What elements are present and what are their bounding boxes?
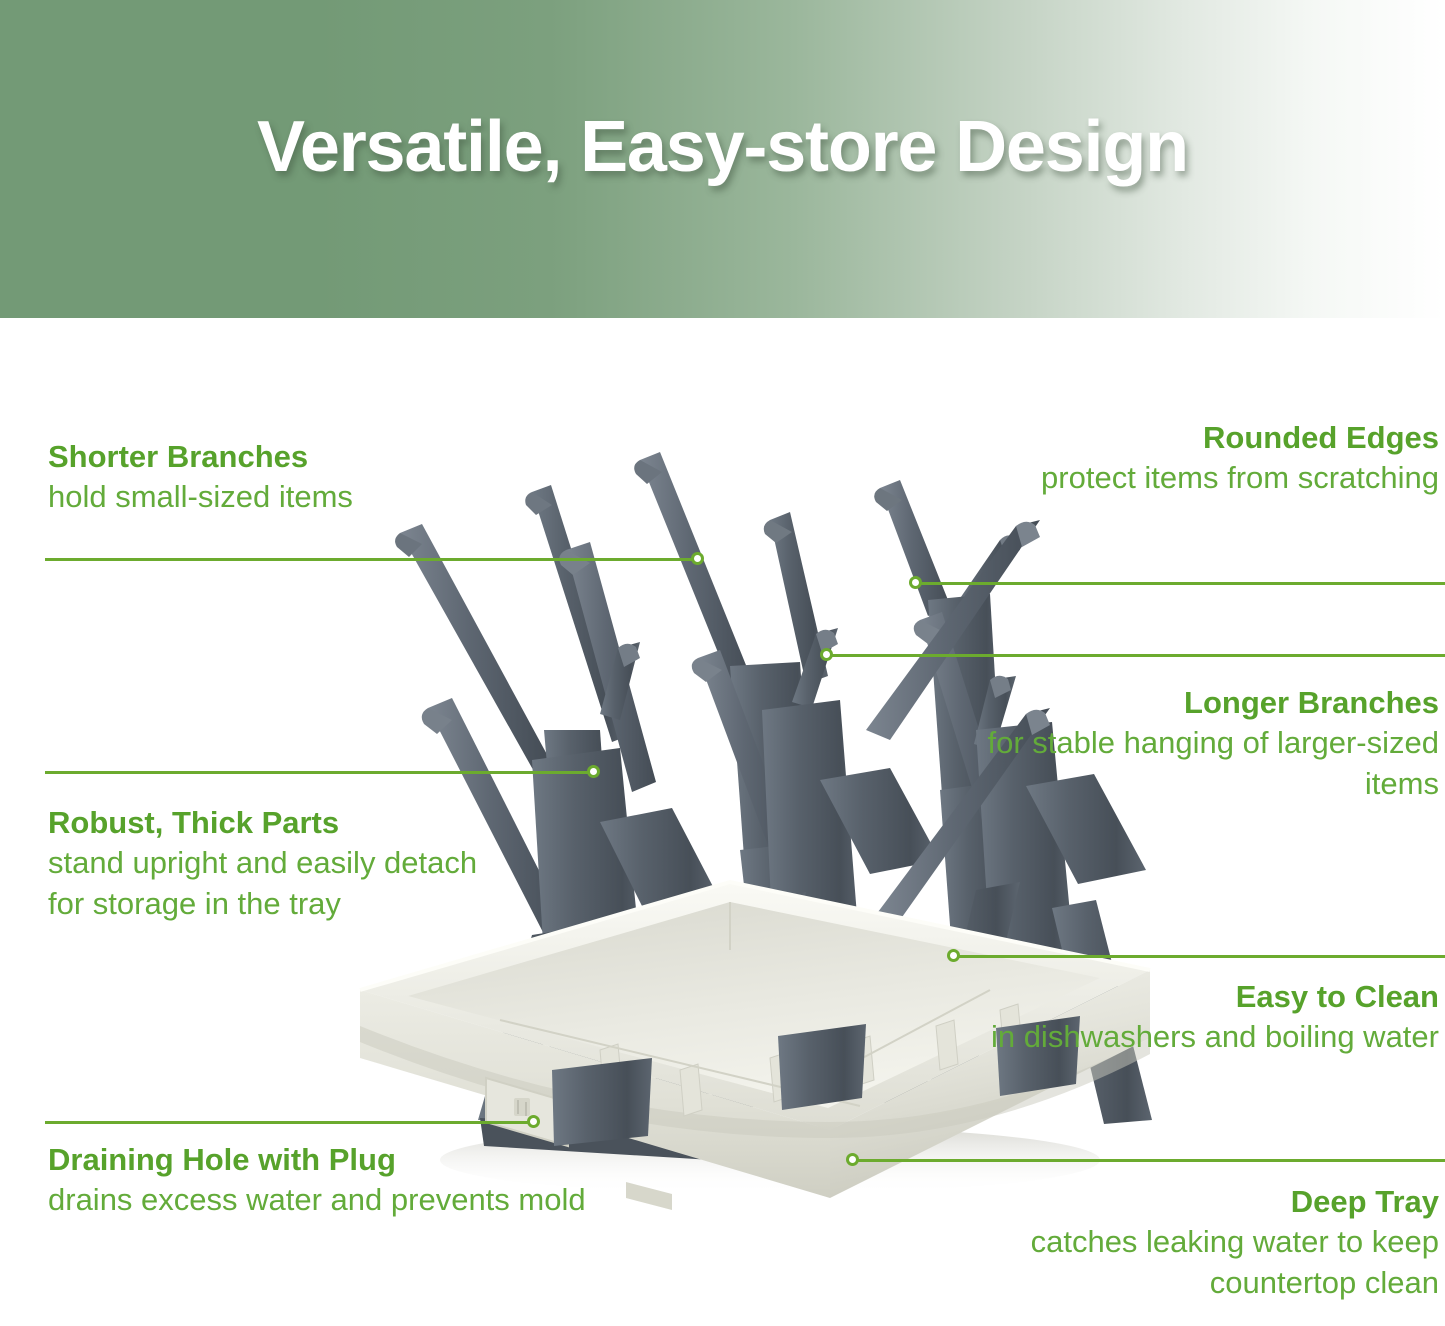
callout-draining-hole: Draining Hole with Plug drains excess wa… xyxy=(48,1140,788,1221)
infographic-page: Versatile, Easy-store Design xyxy=(0,0,1445,1326)
callout-shorter-branches-body: hold small-sized items xyxy=(48,477,518,517)
callout-deep-tray: Deep Tray catches leaking water to keep … xyxy=(895,1182,1439,1303)
leader-dot-robust-thick-parts xyxy=(587,765,600,778)
leader-line-deep-tray xyxy=(858,1159,1445,1162)
callout-deep-tray-heading: Deep Tray xyxy=(895,1182,1439,1222)
leader-dot-rounded-edges xyxy=(909,576,922,589)
leader-line-robust-thick-parts xyxy=(45,771,593,774)
callout-easy-to-clean-heading: Easy to Clean xyxy=(975,977,1439,1017)
callout-shorter-branches-heading: Shorter Branches xyxy=(48,437,518,477)
page-title: Versatile, Easy-store Design xyxy=(0,106,1445,188)
leader-dot-shorter-branches xyxy=(691,552,704,565)
leader-dot-draining-hole xyxy=(527,1115,540,1128)
leader-line-draining-hole xyxy=(45,1121,533,1124)
leader-line-easy-to-clean xyxy=(959,955,1445,958)
callout-deep-tray-body: catches leaking water to keep countertop… xyxy=(895,1222,1439,1303)
callout-draining-hole-heading: Draining Hole with Plug xyxy=(48,1140,788,1180)
callout-robust-thick-parts-body: stand upright and easily detach for stor… xyxy=(48,843,498,924)
leader-dot-easy-to-clean xyxy=(947,949,960,962)
callout-longer-branches: Longer Branches for stable hanging of la… xyxy=(975,683,1439,804)
callout-robust-thick-parts-heading: Robust, Thick Parts xyxy=(48,803,498,843)
callout-longer-branches-body: for stable hanging of larger-sized items xyxy=(975,723,1439,804)
callout-easy-to-clean-body: in dishwashers and boiling water xyxy=(975,1017,1439,1057)
callout-longer-branches-heading: Longer Branches xyxy=(975,683,1439,723)
callout-rounded-edges-body: protect items from scratching xyxy=(975,458,1439,498)
leader-dot-longer-branches xyxy=(820,648,833,661)
callout-rounded-edges: Rounded Edges protect items from scratch… xyxy=(975,418,1439,499)
leader-dot-deep-tray xyxy=(846,1153,859,1166)
leader-line-shorter-branches xyxy=(45,558,697,561)
leader-line-longer-branches xyxy=(832,654,1445,657)
callout-rounded-edges-heading: Rounded Edges xyxy=(975,418,1439,458)
callout-shorter-branches: Shorter Branches hold small-sized items xyxy=(48,437,518,518)
callout-draining-hole-body: drains excess water and prevents mold xyxy=(48,1180,788,1220)
header-banner: Versatile, Easy-store Design xyxy=(0,0,1445,318)
callout-easy-to-clean: Easy to Clean in dishwashers and boiling… xyxy=(975,977,1439,1058)
callout-robust-thick-parts: Robust, Thick Parts stand upright and ea… xyxy=(48,803,498,924)
leader-line-rounded-edges xyxy=(921,582,1445,585)
